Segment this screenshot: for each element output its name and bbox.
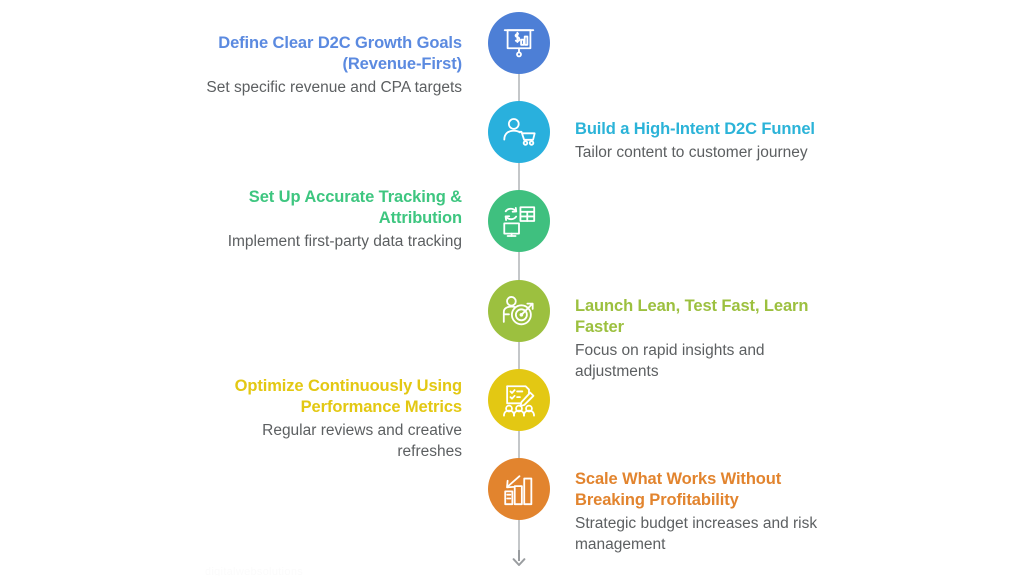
step-4-description: Focus on rapid insights and adjustments [575, 341, 837, 383]
timeline-arrow-down-icon [510, 550, 528, 566]
step-2-title: Build a High-Intent D2C Funnel [575, 119, 837, 140]
step-5-icon-badge[interactable] [488, 369, 550, 431]
footer-watermark: digitalwebsolutions [205, 566, 303, 576]
step-2-text-block: Build a High-Intent D2C Funnel Tailor co… [575, 119, 837, 164]
step-2-description: Tailor content to customer journey [575, 143, 837, 164]
step-5-description: Regular reviews and creative refreshes [200, 421, 462, 463]
step-4-icon-badge[interactable] [488, 280, 550, 342]
step-4-title: Launch Lean, Test Fast, Learn Faster [575, 296, 837, 338]
person-target-arrow-icon [500, 292, 538, 330]
step-6-title: Scale What Works Without Breaking Profit… [575, 469, 837, 511]
step-4-text-block: Launch Lean, Test Fast, Learn Faster Foc… [575, 296, 837, 383]
bar-chart-down-arrow-icon [500, 470, 538, 508]
presentation-chart-dollar-icon [500, 24, 538, 62]
step-3-description: Implement first-party data tracking [200, 232, 462, 253]
monitor-data-sync-icon [500, 202, 538, 240]
step-3-text-block: Set Up Accurate Tracking & Attribution I… [200, 187, 462, 253]
step-1-text-block: Define Clear D2C Growth Goals (Revenue-F… [200, 33, 462, 99]
step-1-description: Set specific revenue and CPA targets [200, 78, 462, 99]
infographic-canvas: Define Clear D2C Growth Goals (Revenue-F… [0, 0, 1024, 576]
step-5-text-block: Optimize Continuously Using Performance … [200, 376, 462, 463]
step-3-icon-badge[interactable] [488, 190, 550, 252]
step-6-description: Strategic budget increases and risk mana… [575, 514, 837, 556]
customer-shopping-cart-icon [500, 113, 538, 151]
checklist-pencil-team-icon [500, 381, 538, 419]
step-6-icon-badge[interactable] [488, 458, 550, 520]
step-1-icon-badge[interactable] [488, 12, 550, 74]
step-6-text-block: Scale What Works Without Breaking Profit… [575, 469, 837, 556]
step-5-title: Optimize Continuously Using Performance … [200, 376, 462, 418]
step-3-title: Set Up Accurate Tracking & Attribution [200, 187, 462, 229]
step-1-title: Define Clear D2C Growth Goals (Revenue-F… [200, 33, 462, 75]
step-2-icon-badge[interactable] [488, 101, 550, 163]
